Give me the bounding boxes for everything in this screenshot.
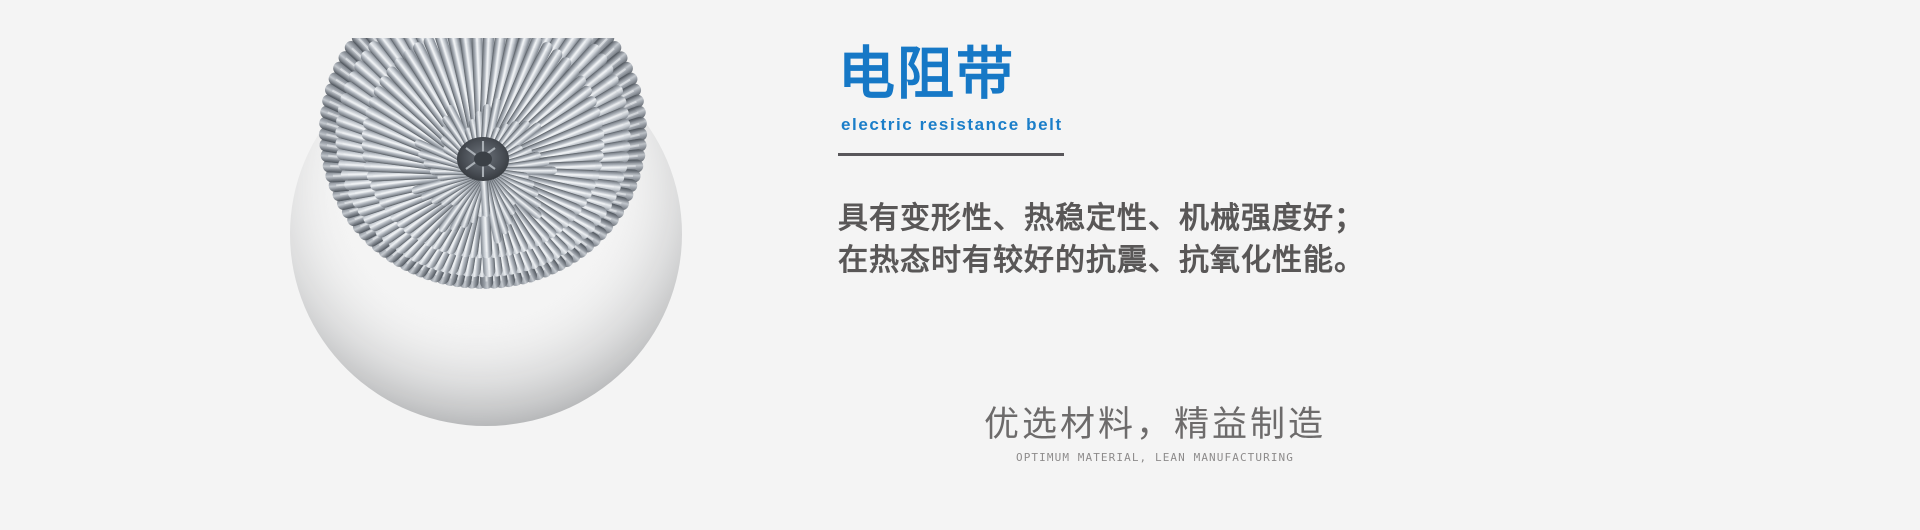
product-description: 具有变形性、热稳定性、机械强度好； 在热态时有较好的抗震、抗氧化性能。 — [838, 198, 1738, 282]
description-line-1: 具有变形性、热稳定性、机械强度好； — [838, 198, 1738, 240]
product-image — [290, 38, 690, 430]
page-title: 电阻带 — [838, 44, 1738, 106]
slogan-english: OPTIMUM MATERIAL, LEAN MANUFACTURING — [945, 451, 1365, 464]
text-content: 电阻带 electric resistance belt 具有变形性、热稳定性、… — [838, 44, 1738, 282]
title-divider — [838, 153, 1064, 156]
slogan-block: 优选材料，精益制造 OPTIMUM MATERIAL, LEAN MANUFAC… — [945, 406, 1365, 464]
slogan-chinese: 优选材料，精益制造 — [945, 406, 1365, 445]
product-banner: 电阻带 electric resistance belt 具有变形性、热稳定性、… — [0, 0, 1920, 530]
page-subtitle: electric resistance belt — [841, 115, 1738, 135]
description-line-2: 在热态时有较好的抗震、抗氧化性能。 — [838, 240, 1738, 282]
product-shading — [290, 42, 682, 426]
